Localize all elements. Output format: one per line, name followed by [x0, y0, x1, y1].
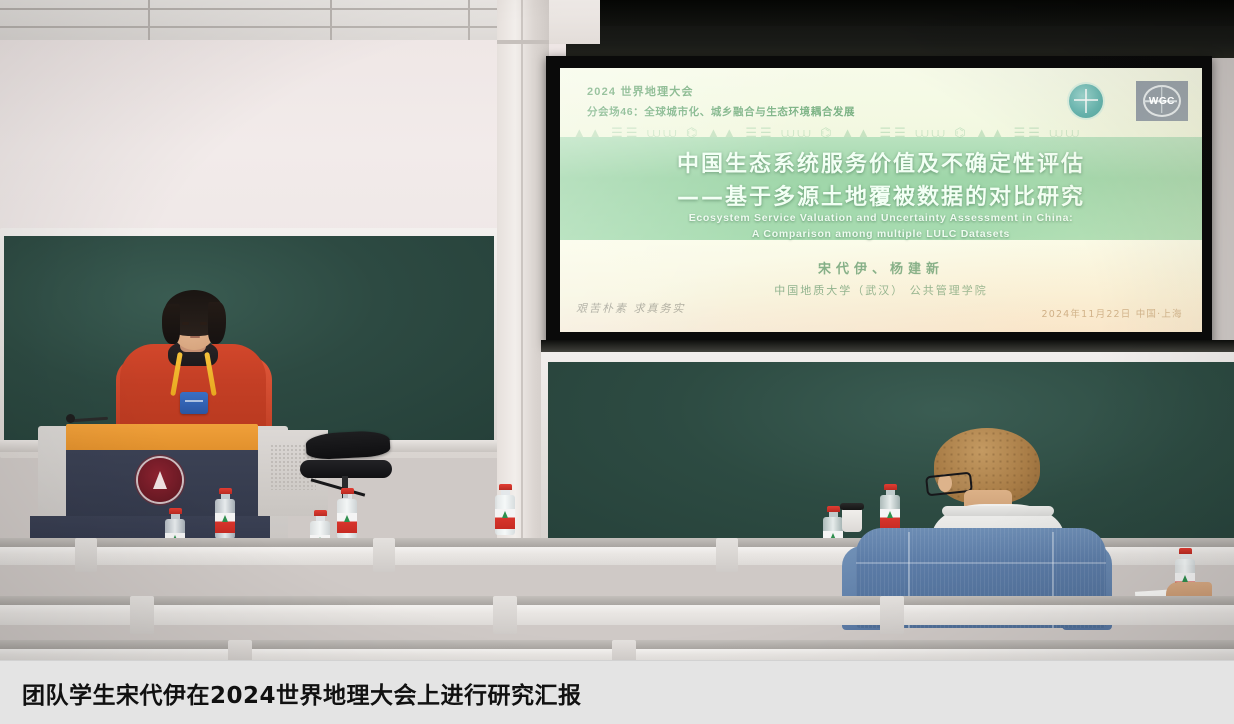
bottle-leaf-icon [344, 515, 350, 522]
denim-yoke-seam [856, 562, 1106, 564]
podium-microphone-head [66, 414, 75, 423]
presenter-mouth [190, 336, 200, 338]
desk-support-block [716, 538, 738, 572]
bottle-leaf-icon [222, 515, 228, 522]
front-wall [0, 40, 566, 240]
desk-support-block [373, 538, 395, 572]
slide-title-en-line2: A Comparison among multiple LULC Dataset… [560, 228, 1202, 240]
presenter-hair-left [162, 304, 180, 344]
slide-affiliation: 中国地质大学（武汉） 公共管理学院 [560, 282, 1202, 298]
presenter-eye-right [200, 322, 207, 325]
water-bottle [215, 488, 235, 539]
presentation-slide: 2024 世界地理大会 分会场46：全球城市化、城乡融合与生态环境耦合发展 WG… [560, 68, 1202, 332]
bottle-body [337, 499, 357, 539]
ceiling-shadow-deep [600, 0, 1234, 26]
wall-column-cap [497, 40, 549, 44]
wall-column-seam [521, 0, 523, 560]
wgc-logo-text: WGC [1149, 96, 1175, 107]
desk-support-block [612, 640, 636, 662]
presenter-hair-right [208, 302, 226, 344]
podium-top-panel [66, 424, 258, 450]
slide-title-cn-line2: ——基于多源土地覆被数据的对比研究 [560, 179, 1202, 211]
desk-row-2-top [0, 605, 1234, 625]
desk-support-block [493, 596, 517, 634]
slide-authors: 宋代伊、杨建新 [560, 258, 1202, 277]
bottle-body [215, 499, 235, 539]
wgc-logo: WGC [1136, 81, 1188, 121]
conference-globe-logo-icon [1069, 84, 1103, 118]
university-emblem-icon [138, 458, 182, 502]
presenter [120, 296, 266, 432]
desk-support-block [228, 640, 252, 662]
slide-date-location: 2024年11月22日 中国·上海 [1041, 306, 1182, 320]
bottle-body [495, 495, 515, 535]
water-bottle [337, 488, 357, 539]
presenter-eye-left [182, 322, 189, 325]
bottle-leaf-icon [1182, 575, 1188, 582]
desk-row-2-edge [0, 596, 1234, 605]
presenter-badge [180, 392, 208, 414]
projection-screen: 2024 世界地理大会 分会场46：全球城市化、城乡融合与生态环境耦合发展 WG… [560, 68, 1202, 332]
slide-session-line: 分会场46：全球城市化、城乡融合与生态环境耦合发展 [587, 104, 855, 119]
slide-calligraphy-motto: 艰苦朴素 求真务实 [576, 300, 686, 316]
slide-title-en-line1: Ecosystem Service Valuation and Uncertai… [560, 212, 1202, 224]
bottle-leaf-icon [502, 511, 508, 518]
projection-screen-bezel: 2024 世界地理大会 分会场46：全球城市化、城乡融合与生态环境耦合发展 WG… [546, 56, 1212, 346]
desk-support-block [75, 538, 97, 572]
wgc-globe-icon: WGC [1143, 85, 1181, 117]
slide-conference-line: 2024 世界地理大会 [587, 83, 694, 99]
ceiling-tiles [0, 0, 566, 42]
emblem-tree-icon [153, 471, 167, 489]
water-bottle [495, 484, 515, 535]
slide-decorative-motif: ▲▲ ☰☰ ⩊⩊ ⌬ ▲▲ ☰☰ ⩊⩊ ⌬ ▲▲ ☰☰ ⩊⩊ ⌬ ▲▲ ☰☰ ⩊… [573, 122, 1189, 144]
audience-hoodie-band [942, 506, 1054, 516]
lecture-hall-photo: 2024 世界地理大会 分会场46：全球城市化、城乡融合与生态环境耦合发展 WG… [0, 0, 1234, 724]
caption-text: 团队学生宋代伊在2024世界地理大会上进行研究汇报 [22, 676, 582, 710]
desk-support-block [880, 596, 904, 634]
slide-title-cn-line1: 中国生态系统服务价值及不确定性评估 [560, 146, 1202, 178]
desk-support-block [130, 596, 154, 634]
